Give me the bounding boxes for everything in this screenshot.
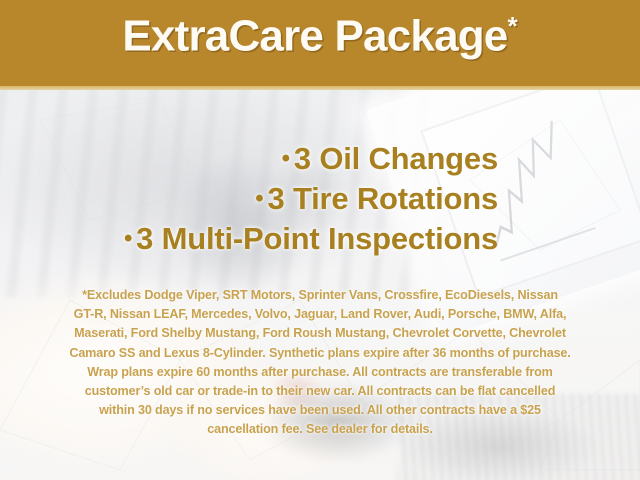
bullet-dot-icon: •	[282, 145, 294, 172]
list-item-label: 3 Tire Rotations	[268, 181, 499, 216]
benefits-list: •3 Oil Changes •3 Tire Rotations •3 Mult…	[0, 139, 640, 259]
disclaimer-line: *Excludes Dodge Viper, SRT Motors, Sprin…	[28, 286, 612, 305]
bullet-dot-icon: •	[124, 225, 136, 252]
list-item: •3 Multi-Point Inspections	[0, 219, 498, 259]
page-title-asterisk: *	[507, 11, 517, 41]
disclaimer-line: Camaro SS and Lexus 8-Cylinder. Syntheti…	[28, 344, 612, 363]
disclaimer-text: *Excludes Dodge Viper, SRT Motors, Sprin…	[28, 286, 612, 440]
disclaimer-line: within 30 days if no services have been …	[28, 401, 612, 420]
disclaimer-line: Wrap plans expire 60 months after purcha…	[28, 363, 612, 382]
bullet-dot-icon: •	[255, 185, 267, 212]
list-item-label: 3 Oil Changes	[294, 141, 498, 176]
page-title: ExtraCare Package*	[0, 11, 640, 62]
disclaimer-line: Maserati, Ford Shelby Mustang, Ford Rous…	[28, 324, 612, 343]
disclaimer-line: cancellation fee. See dealer for details…	[28, 420, 612, 439]
header-divider-rule	[0, 86, 640, 90]
page-title-text: ExtraCare Package	[122, 12, 507, 61]
list-item: •3 Oil Changes	[0, 139, 498, 179]
list-item-label: 3 Multi-Point Inspections	[136, 221, 498, 256]
list-item: •3 Tire Rotations	[0, 179, 498, 219]
extracare-package-promo: ExtraCare Package* •3 Oil Changes •3 Tir…	[0, 0, 640, 480]
disclaimer-line: customer’s old car or trade-in to their …	[28, 382, 612, 401]
disclaimer-line: GT-R, Nissan LEAF, Mercedes, Volvo, Jagu…	[28, 305, 612, 324]
